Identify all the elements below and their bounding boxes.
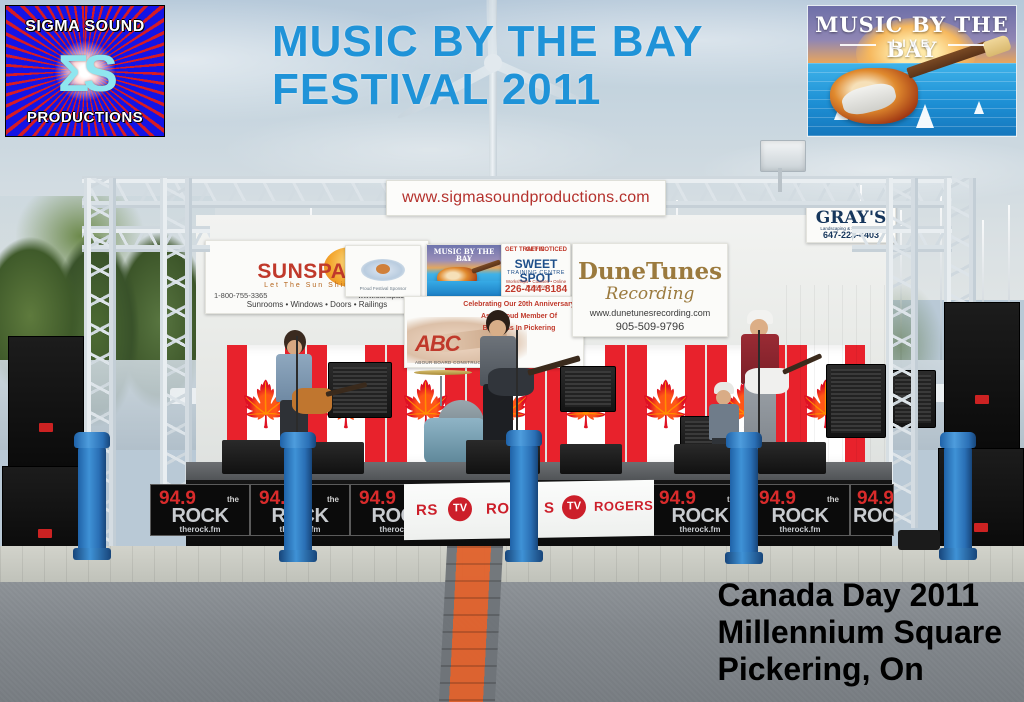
bollard xyxy=(284,446,312,554)
rogers-tv-mark: TV xyxy=(562,500,586,512)
sigma-top-text: SIGMA SOUND xyxy=(6,18,164,36)
event-caption: Canada Day 2011 Millennium Square Picker… xyxy=(718,577,1002,688)
sweetspot-brand2: TRAINING CENTRE xyxy=(502,270,570,276)
sailboat-icon xyxy=(974,101,984,114)
rogers-tv-mark: TV xyxy=(448,502,472,514)
stage-light-fixture xyxy=(760,140,806,172)
festival-title-line1: MUSIC BY THE BAY xyxy=(272,17,704,66)
banner-dunetunes: DuneTunes Recording www.dunetunesrecordi… xyxy=(572,243,728,337)
rock-the: the xyxy=(827,495,839,504)
dunetunes-brand2: Recording xyxy=(573,284,727,304)
logo-music-by-the-bay-live: MUSIC BY THE BAY LIVE xyxy=(808,6,1016,136)
guitar-amp-center xyxy=(560,366,616,412)
rock-url: therock.fm xyxy=(751,525,849,534)
sigma-monogram: ΣS xyxy=(16,48,154,100)
poster-image: 🍁 🍁 🍁 🍁 🍁 🍁 🍁 🍁 SUNSPACE Let The Sun Shi… xyxy=(0,0,1024,702)
rock-word: ROCK xyxy=(853,505,894,528)
festival-title-line2: FESTIVAL 2011 xyxy=(272,66,704,114)
grays-brand: GRAY'S xyxy=(807,208,895,228)
stage-monitor-5 xyxy=(674,444,732,474)
banner-sigma-url: www.sigmasoundproductions.com xyxy=(386,180,666,216)
sigma-bottom-text: PRODUCTIONS xyxy=(6,109,164,126)
rock-url: therock.fm xyxy=(151,525,249,534)
abc-logo: ABC xyxy=(415,331,460,357)
bollard xyxy=(78,446,106,552)
cable-ramp xyxy=(439,546,503,702)
banner-sweetspot: GET TRAFFIC GET NOTICED SWEET SPOT TRAIN… xyxy=(501,243,571,299)
stage-monitor-4 xyxy=(560,444,622,474)
crest-caption: Proud Festival Sponsor xyxy=(346,287,420,292)
sunspace-products: Sunrooms • Windows • Doors • Railings xyxy=(206,301,428,309)
dunetunes-brand1: DuneTunes xyxy=(573,258,727,285)
sweetspot-headline-right: GET NOTICED xyxy=(526,247,567,253)
banner-crest: Proud Festival Sponsor xyxy=(345,245,421,297)
rock-banner: 94.9 the ROCK therock.fm xyxy=(150,484,250,536)
pa-subwoofer-left xyxy=(2,466,88,554)
stage-monitor-6 xyxy=(758,442,826,474)
bass-cab-right xyxy=(826,364,886,438)
dunetunes-phone: 905-509-9796 xyxy=(573,321,727,333)
stage-light-yoke xyxy=(778,168,782,192)
abc-line1: Celebrating Our 20th Anniversary xyxy=(461,301,577,308)
sweetspot-phone: 226-444-8184 xyxy=(502,284,570,295)
bollard xyxy=(730,446,758,556)
bollard xyxy=(944,446,972,552)
rogers-brand: ROGERS xyxy=(594,498,653,514)
banner-mbtb-small: MUSIC BY THE BAY LIVE xyxy=(426,244,502,298)
rogers-brand-partial: S xyxy=(544,500,555,517)
equipment-case xyxy=(898,530,940,550)
sailboat-icon xyxy=(916,104,934,128)
dunetunes-web: www.dunetunesrecording.com xyxy=(573,308,727,318)
pa-speaker-top-left xyxy=(8,336,84,474)
sigma-url-text: www.sigmasoundproductions.com xyxy=(387,189,665,207)
rogers-brand-partial: RS xyxy=(416,502,438,519)
logo-sigma-sound: ΣS SIGMA SOUND PRODUCTIONS xyxy=(6,6,164,136)
caption-line-1: Canada Day 2011 xyxy=(718,577,1002,614)
rock-banner: 94.9 the ROCK therock.fm xyxy=(750,484,850,536)
sunspace-phone: 1-800-755-3365 xyxy=(214,291,267,300)
rock-the: the xyxy=(327,495,339,504)
bollard xyxy=(510,444,538,554)
rock-banner: 94.9 ROCK xyxy=(850,484,894,536)
mbtb-logo-title: MUSIC BY THE BAY xyxy=(808,12,1016,62)
festival-title: MUSIC BY THE BAY FESTIVAL 2011 xyxy=(272,18,704,113)
caption-line-3: Pickering, On xyxy=(718,651,1002,688)
mbtb-logo-subtitle: LIVE xyxy=(808,38,1016,50)
rock-the: the xyxy=(227,495,239,504)
caption-line-2: Millennium Square xyxy=(718,614,1002,651)
